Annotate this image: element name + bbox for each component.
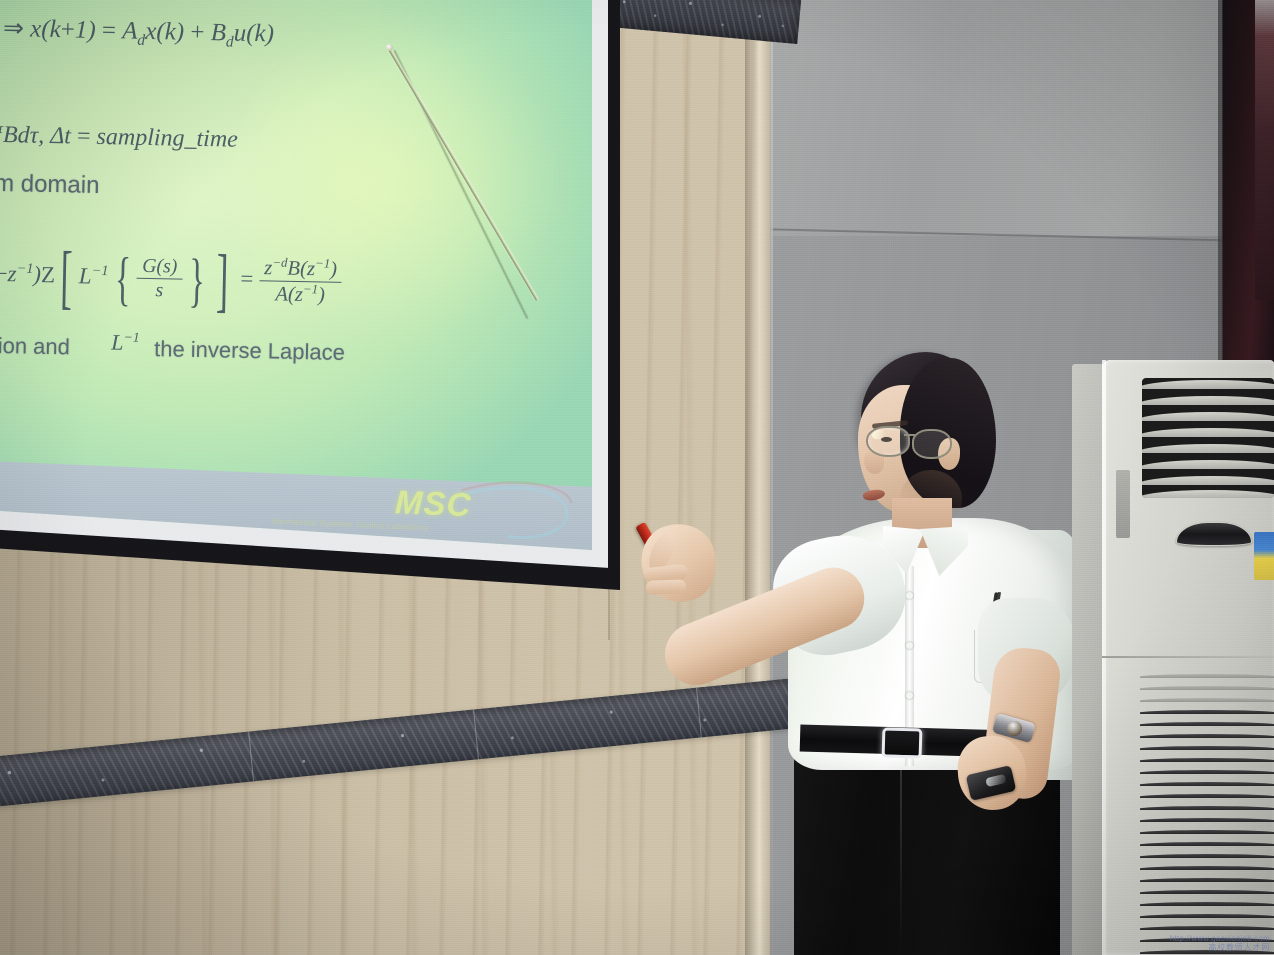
slide-caption-tail: the inverse Laplace [154, 336, 345, 366]
presenter-finger [646, 579, 686, 594]
dark-doorway-highlight [1255, 0, 1274, 300]
msc-logo-text: MSC [394, 483, 472, 524]
eyeglasses-right-lens-icon [912, 429, 952, 459]
slide-content: ate space x + Bu ⇒ x(k+1) = Adx(k) + Bdu… [0, 0, 592, 556]
ac-side-panel [1072, 364, 1104, 955]
presenter [600, 330, 1100, 955]
equation-z-transform: z−1) = (1−z−1)Z[L−1{ G(s) s }] = z−dB(z−… [0, 233, 343, 323]
dark-doorway-edge [1218, 0, 1223, 364]
presenter-shirt-button [906, 642, 913, 649]
presenter-shirt-button [906, 592, 913, 599]
ac-energy-label [1254, 532, 1274, 580]
slide-subheading-transform-partial: ransform domain [0, 168, 100, 200]
watermark-url: http://www.gaoxiaojob.com [1170, 934, 1270, 943]
presenter-shirt-button [906, 692, 913, 699]
watermark: http://www.gaoxiaojob.com 高校教师人才网 [1170, 934, 1270, 952]
watermark-site-name: 高校教师人才网 [1170, 943, 1270, 952]
presenter-nose [864, 448, 884, 474]
presenter-trouser-crease [900, 760, 902, 955]
eyeglasses-bridge-icon [904, 434, 915, 436]
ac-side-vent [1116, 470, 1130, 538]
presenter-hand-holding-pointer [634, 516, 725, 610]
ac-bottom-intake-grille [1140, 672, 1274, 955]
equation-state-space: x + Bu ⇒ x(k+1) = Adx(k) + Bdu(k) [0, 12, 274, 53]
equation-discretization: = ∫ Δt 0 eAτBdτ, Δt = sampling_time [0, 103, 238, 172]
photo-scene: ate space x + Bu ⇒ x(k+1) = Adx(k) + Bdu… [0, 0, 1274, 955]
projection-screen-surface: ate space x + Bu ⇒ x(k+1) = Adx(k) + Bdu… [0, 0, 592, 556]
ac-top-louver-grille [1142, 378, 1274, 498]
air-conditioner [1072, 360, 1274, 955]
slide-caption-symbol: L−1 [111, 329, 140, 356]
presenter-belt-buckle [882, 727, 923, 758]
ac-panel-seam [1102, 656, 1274, 658]
slide-caption-partial: nsformation and [0, 331, 70, 360]
pointer-tip [386, 44, 393, 51]
